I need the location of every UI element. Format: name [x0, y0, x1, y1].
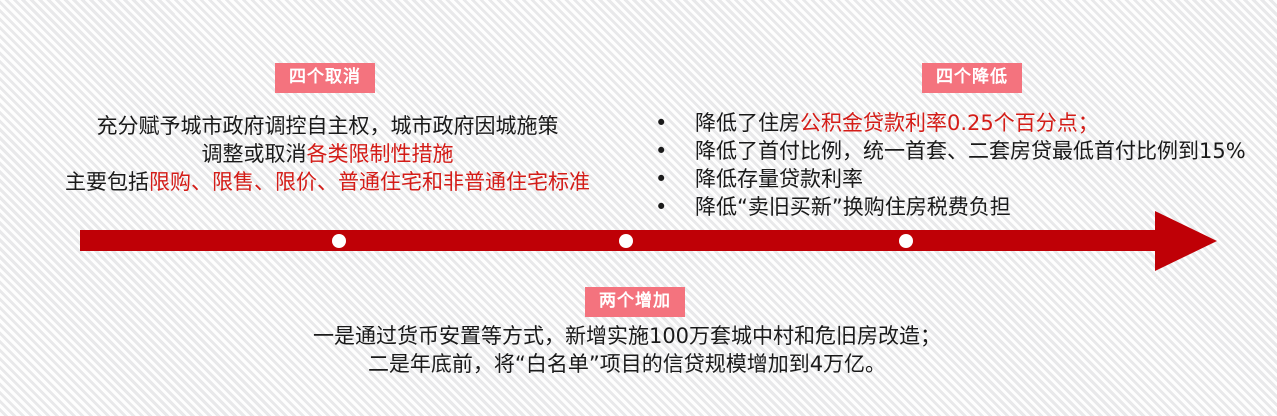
cancel-line-3-highlight: 限购、限售、限价、普通住宅和非普通住宅标准	[149, 170, 590, 194]
reduce-list-item-3: •降低存量贷款利率	[655, 165, 1246, 193]
timeline-node-dot-1	[332, 234, 346, 248]
increase-section-text: 一是通过货币安置等方式，新增实施100万套城中村和危旧房改造； 二是年底前，将“…	[277, 322, 977, 378]
increase-line-2: 二是年底前，将“白名单”项目的信贷规模增加到4万亿。	[277, 350, 977, 378]
bullet-icon: •	[655, 193, 695, 221]
cancel-line-3-plain: 主要包括	[65, 170, 149, 194]
cancel-line-2: 调整或取消各类限制性措施	[40, 140, 615, 168]
reduce-item-1-plain: 降低了住房	[695, 111, 800, 135]
cancel-line-3: 主要包括限购、限售、限价、普通住宅和非普通住宅标准	[40, 168, 615, 196]
bullet-icon: •	[655, 137, 695, 165]
increase-line-1: 一是通过货币安置等方式，新增实施100万套城中村和危旧房改造；	[277, 322, 977, 350]
badge-four-reductions: 四个降低	[922, 63, 1022, 93]
reduce-list-item-4: •降低“卖旧买新”换购住房税费负担	[655, 193, 1246, 221]
reduce-item-2-plain: 降低了首付比例，统一首套、二套房贷最低首付比例到15%	[695, 139, 1246, 163]
cancel-line-1-plain: 充分赋予城市政府调控自主权，城市政府因城施策	[97, 114, 559, 138]
timeline-node-dot-2	[619, 234, 633, 248]
reduce-item-4-plain: 降低“卖旧买新”换购住房税费负担	[695, 195, 1011, 219]
reduce-section-list: •降低了住房公积金贷款利率0.25个百分点； •降低了首付比例，统一首套、二套房…	[655, 109, 1246, 221]
badge-four-cancellations: 四个取消	[275, 63, 375, 93]
reduce-item-1-highlight: 公积金贷款利率0.25个百分点；	[800, 111, 1099, 135]
reduce-item-3-plain: 降低存量贷款利率	[695, 167, 863, 191]
timeline-node-dot-3	[899, 234, 913, 248]
increase-line-2-plain: 二是年底前，将“白名单”项目的信贷规模增加到4万亿。	[368, 352, 886, 376]
increase-line-1-plain: 一是通过货币安置等方式，新增实施100万套城中村和危旧房改造；	[313, 324, 941, 348]
bullet-icon: •	[655, 109, 695, 137]
cancel-line-2-plain: 调整或取消	[202, 142, 307, 166]
reduce-list-item-1: •降低了住房公积金贷款利率0.25个百分点；	[655, 109, 1246, 137]
infographic-canvas: 四个取消 四个降低 两个增加 充分赋予城市政府调控自主权，城市政府因城施策 调整…	[0, 0, 1277, 416]
cancel-section-text: 充分赋予城市政府调控自主权，城市政府因城施策 调整或取消各类限制性措施 主要包括…	[40, 112, 615, 196]
reduce-list-item-2: •降低了首付比例，统一首套、二套房贷最低首付比例到15%	[655, 137, 1246, 165]
cancel-line-2-highlight: 各类限制性措施	[307, 142, 454, 166]
badge-two-increases: 两个增加	[585, 287, 685, 317]
cancel-line-1: 充分赋予城市政府调控自主权，城市政府因城施策	[40, 112, 615, 140]
bullet-icon: •	[655, 165, 695, 193]
